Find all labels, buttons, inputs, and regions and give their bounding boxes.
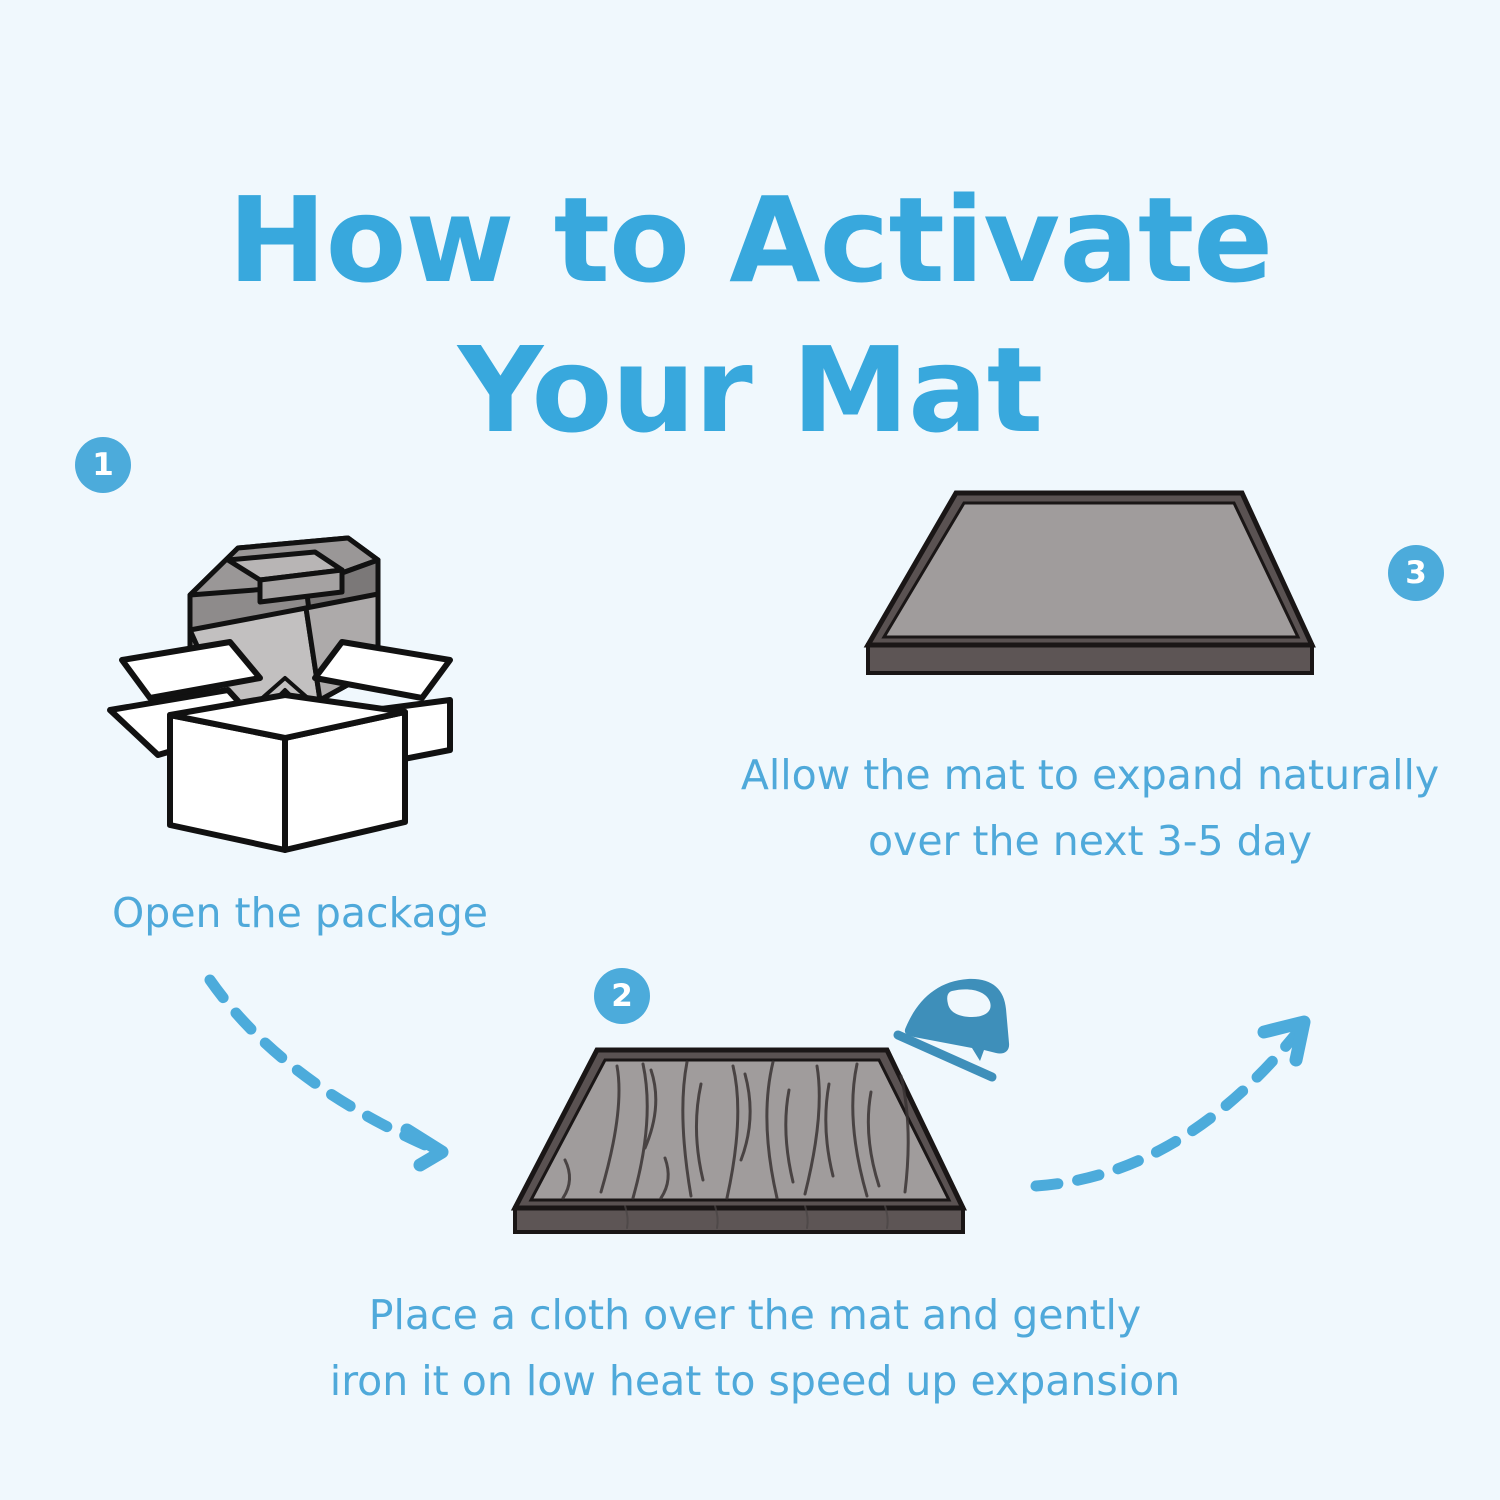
arrow-step1-to-step2-icon: [170, 960, 510, 1210]
flat-expanded-mat-icon: [860, 485, 1340, 700]
step-1-caption: Open the package: [60, 880, 540, 946]
step-badge-1: 1: [75, 437, 131, 493]
step-2-caption-line-1: Place a cloth over the mat and gently: [250, 1282, 1260, 1348]
step-2-caption: Place a cloth over the mat and gently ir…: [250, 1282, 1260, 1414]
step-2-caption-line-2: iron it on low heat to speed up expansio…: [250, 1348, 1260, 1414]
infographic-page: How to Activate Your Mat 1: [0, 0, 1500, 1500]
step-1-caption-text: Open the package: [112, 889, 488, 937]
step-badge-3: 3: [1388, 545, 1444, 601]
step-3-caption: Allow the mat to expand naturally over t…: [680, 742, 1500, 874]
arrow-step2-to-step3-icon: [1000, 990, 1340, 1220]
open-box-icon: [110, 500, 490, 860]
step-badge-2: 2: [594, 968, 650, 1024]
title-line-2: Your Mat: [0, 315, 1500, 465]
step-3-caption-line-1: Allow the mat to expand naturally: [680, 742, 1500, 808]
step-3-caption-line-2: over the next 3-5 day: [680, 808, 1500, 874]
title-line-1: How to Activate: [228, 171, 1273, 309]
page-title: How to Activate Your Mat: [0, 165, 1500, 465]
wrinkled-mat-icon: [505, 1040, 995, 1265]
